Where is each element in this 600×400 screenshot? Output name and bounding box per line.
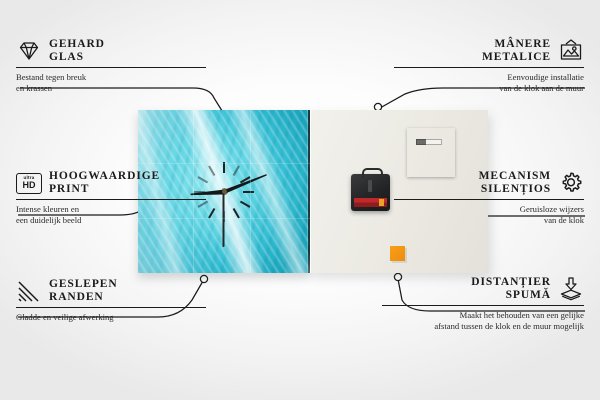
callout-handles-title-line1: MÂNERE xyxy=(482,38,551,51)
callout-silent-rule xyxy=(394,199,584,200)
callout-spacer-desc-line2: afstand tussen de klok en de muur mogeli… xyxy=(382,321,584,332)
hanging-picture-icon xyxy=(558,38,584,64)
callout-edges-desc-line1: Gladde en veilige afwerking xyxy=(16,312,206,323)
callout-silent: MECANISM SILENȚIOS Geruisloze wijzers va… xyxy=(394,170,584,226)
movement-hanger-loop xyxy=(362,168,383,178)
clock-tick-5 xyxy=(208,165,240,218)
callout-print-desc-line2: een duidelijk beeld xyxy=(16,215,206,226)
callout-edges-title-line2: RANDEN xyxy=(49,291,118,304)
callout-handles-desc: Eenvoudige installatie van de klok aan d… xyxy=(394,72,584,94)
clock-center-cap xyxy=(222,189,227,194)
callout-print: ultra HD HOOGWAARDIGE PRINT Intense kleu… xyxy=(16,170,206,226)
bevelled-edge-icon xyxy=(16,278,42,304)
callout-handles-desc-line1: Eenvoudige installatie xyxy=(394,72,584,83)
callout-spacer-title-line1: DISTANȚIER xyxy=(471,276,551,289)
callout-print-title: HOOGWAARDIGE PRINT xyxy=(49,170,160,196)
callout-handles-title: MÂNERE METALICE xyxy=(482,38,551,64)
callout-handles-title-line2: METALICE xyxy=(482,51,551,64)
movement-shaft xyxy=(368,180,372,192)
callout-glass: GEHARD GLAS Bestand tegen breuk en krass… xyxy=(16,38,206,94)
clock-minute-hand xyxy=(223,172,267,193)
callout-spacer: DISTANȚIER SPUMĂ Maakt het behouden van … xyxy=(382,276,584,332)
callout-glass-desc-line1: Bestand tegen breuk xyxy=(16,72,206,83)
spacer-stack-icon xyxy=(558,276,584,302)
callout-print-rule xyxy=(16,199,206,200)
callout-spacer-desc: Maakt het behouden van een gelijke afsta… xyxy=(382,310,584,332)
callout-print-desc-line1: Intense kleuren en xyxy=(16,204,206,215)
clock-tick-7 xyxy=(208,165,240,218)
callout-glass-title-line1: GEHARD xyxy=(49,38,105,51)
callout-print-desc: Intense kleuren en een duidelijk beeld xyxy=(16,204,206,226)
foam-spacer xyxy=(390,246,405,261)
ultra-hd-icon: ultra HD xyxy=(16,173,42,194)
callout-glass-head: GEHARD GLAS xyxy=(16,38,206,64)
callout-spacer-head: DISTANȚIER SPUMĂ xyxy=(382,276,584,302)
callout-print-title-line1: HOOGWAARDIGE xyxy=(49,170,160,183)
hanger-slot xyxy=(416,139,442,145)
callout-handles-rule xyxy=(394,67,584,68)
callout-silent-desc-line1: Geruisloze wijzers xyxy=(394,204,584,215)
callout-edges-title: GESLEPEN RANDEN xyxy=(49,278,118,304)
clock-tick-1 xyxy=(208,165,240,218)
gear-icon xyxy=(558,170,584,196)
clock-tick-11 xyxy=(208,165,240,218)
callout-spacer-title: DISTANȚIER SPUMĂ xyxy=(471,276,551,302)
clock-tick-6 xyxy=(223,162,225,222)
aa-battery xyxy=(354,198,387,207)
clock-tick-12 xyxy=(223,162,225,222)
callout-silent-title-line2: SILENȚIOS xyxy=(479,183,551,196)
callout-glass-title-line2: GLAS xyxy=(49,51,105,64)
infographic-canvas: GEHARD GLAS Bestand tegen breuk en krass… xyxy=(0,0,600,400)
callout-silent-head: MECANISM SILENȚIOS xyxy=(394,170,584,196)
callout-edges-rule xyxy=(16,307,206,308)
callout-edges-title-line1: GESLEPEN xyxy=(49,278,118,291)
callout-silent-desc: Geruisloze wijzers van de klok xyxy=(394,204,584,226)
callout-silent-title-line1: MECANISM xyxy=(479,170,551,183)
callout-print-head: ultra HD HOOGWAARDIGE PRINT xyxy=(16,170,206,196)
callout-glass-desc: Bestand tegen breuk en krassen xyxy=(16,72,206,94)
clock-second-hand xyxy=(223,192,225,247)
callout-handles-desc-line2: van de klok aan de muur xyxy=(394,83,584,94)
callout-spacer-rule xyxy=(382,305,584,306)
callout-silent-title: MECANISM SILENȚIOS xyxy=(479,170,551,196)
callout-edges: GESLEPEN RANDEN Gladde en veilige afwerk… xyxy=(16,278,206,323)
callout-handles: MÂNERE METALICE Eenvoudige installatie v… xyxy=(394,38,584,94)
callout-spacer-desc-line1: Maakt het behouden van een gelijke xyxy=(382,310,584,321)
ultra-hd-icon-large-label: HD xyxy=(23,181,36,190)
callout-edges-desc: Gladde en veilige afwerking xyxy=(16,312,206,323)
callout-print-title-line2: PRINT xyxy=(49,183,160,196)
quartz-movement-box xyxy=(351,174,390,211)
callout-glass-rule xyxy=(16,67,206,68)
callout-silent-desc-line2: van de klok xyxy=(394,215,584,226)
callout-spacer-title-line2: SPUMĂ xyxy=(471,289,551,302)
callout-handles-head: MÂNERE METALICE xyxy=(394,38,584,64)
callout-edges-head: GESLEPEN RANDEN xyxy=(16,278,206,304)
callout-glass-desc-line2: en krassen xyxy=(16,83,206,94)
callout-glass-title: GEHARD GLAS xyxy=(49,38,105,64)
diamond-icon xyxy=(16,38,42,64)
